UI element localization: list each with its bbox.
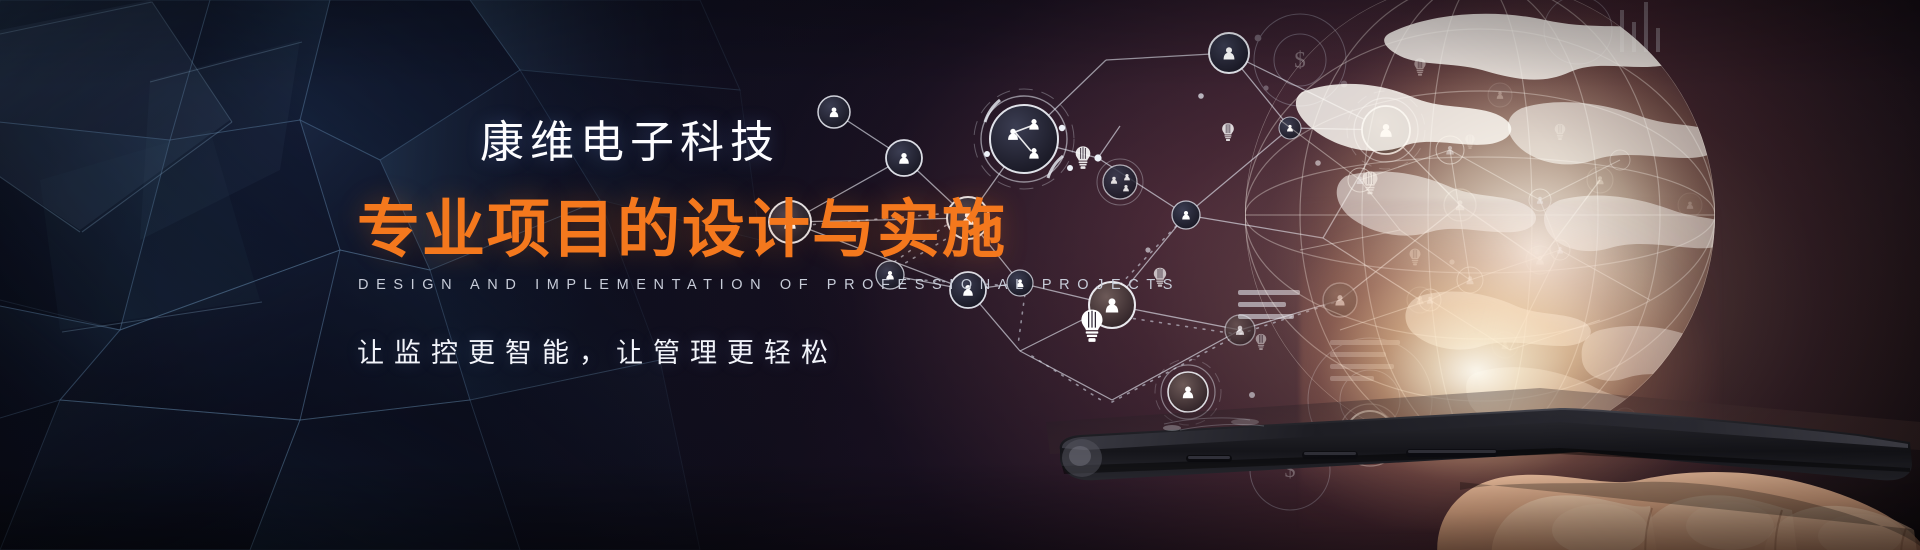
lightbulb-icon bbox=[1222, 123, 1234, 141]
hand-holding-smartphone bbox=[1040, 330, 1920, 550]
tagline: 让监控更智能，让管理更轻松 bbox=[357, 331, 838, 370]
tech-ring-icon bbox=[974, 89, 1074, 189]
company-name: 康维电子科技 bbox=[480, 106, 780, 170]
subtitle-english: DESIGN AND IMPLEMENTATION OF PROFESSIONA… bbox=[358, 277, 1180, 293]
person-node bbox=[1209, 33, 1249, 73]
lightbulb-icon bbox=[1076, 146, 1091, 168]
banner-copy: 康维电子科技 专业项目的设计与实施 DESIGN AND IMPLEMENTAT… bbox=[0, 0, 980, 550]
hero-banner: $ bbox=[0, 0, 1920, 550]
headline: 专业项目的设计与实施 bbox=[357, 179, 1007, 270]
person-node bbox=[1172, 201, 1200, 229]
tech-ring-icon bbox=[1097, 159, 1143, 205]
